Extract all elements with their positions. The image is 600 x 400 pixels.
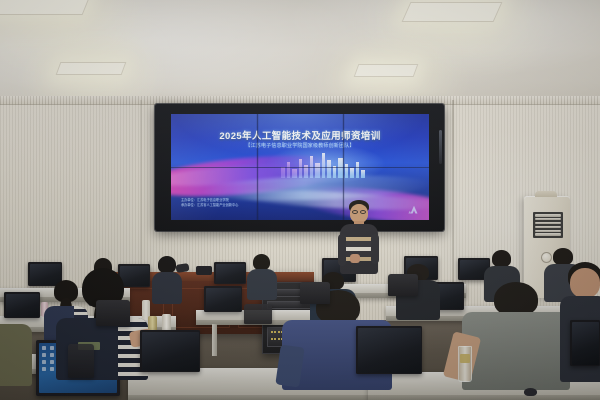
office-chair[interactable] [68,344,94,378]
attendee-gray-tee-man [462,282,570,390]
desktop-monitor[interactable] [4,292,40,318]
tea-leaves [460,354,470,363]
glasses-icon [352,210,358,214]
slide-title: 2025年人工智能技术及应用师资培训 [171,128,429,142]
slide-subtitle: 【江苏电子信息职业学院国家级教师创新团队】 [171,142,429,149]
desktop-icon [42,346,46,350]
office-chair[interactable] [388,274,418,296]
ac-top-cap [535,191,557,197]
desktop-icon [50,353,54,357]
presenter-arm-right [371,234,379,264]
tea-glass [458,346,472,382]
presenter-hands [350,254,360,263]
desktop-monitor[interactable] [214,262,246,284]
desktop-icon [42,360,46,364]
desktop-icon [42,367,46,371]
video-wall-screen: 2025年人工智能技术及应用师资培训 【江苏电子信息职业学院国家级教师创新团队】… [171,114,429,220]
classroom-photo-scene: 2025年人工智能技术及应用师资培训 【江苏电子信息职业学院国家级教师创新团队】… [0,0,600,400]
desktop-icon [42,353,46,357]
desktop-monitor[interactable] [356,326,422,374]
ceiling-light-2 [56,62,127,75]
desktop-monitor[interactable] [140,330,200,372]
attendee-edge-left [0,316,32,386]
presenter-arm-left [338,234,346,266]
bezel-highlight [439,130,442,164]
ceiling-light-sheen [0,0,600,108]
desktop-monitor[interactable] [570,320,600,366]
tile-seam-h1 [171,167,429,168]
slide-footer: 主办单位：江苏电子信息职业学院 承办单位：江苏省人工智能产业创新中心 [181,198,238,208]
office-chair[interactable] [96,300,130,326]
desktop-icon [50,346,54,350]
mountain-peak-logo [407,204,421,216]
desk-leg [212,324,217,356]
attendee-back-row-mid [150,256,184,304]
computer-mouse[interactable] [524,388,537,396]
ac-vent-grille [533,212,563,238]
ceiling-light-3 [402,2,503,22]
lcd-video-wall[interactable]: 2025年人工智能技术及应用师资培训 【江苏电子信息职业学院国家级教师创新团队】… [155,104,444,231]
podium-device [196,266,212,275]
office-chair[interactable] [300,282,330,304]
slide-footer-line-2: 承办单位：江苏省人工智能产业创新中心 [181,203,238,208]
ceiling-light-4 [354,64,419,77]
desktop-monitor[interactable] [204,286,242,312]
glasses-icon [360,210,366,214]
ceiling-light-1 [0,0,89,15]
attendee-back-row-right [246,254,278,300]
presenter [338,200,380,278]
office-chair[interactable] [244,304,272,324]
desktop-icons[interactable] [42,346,55,371]
presentation-slide: 2025年人工智能技术及应用师资培训 【江苏电子信息职业学院国家级教师创新团队】… [171,114,429,220]
desktop-icon [50,367,54,371]
desktop-icon [50,360,54,364]
